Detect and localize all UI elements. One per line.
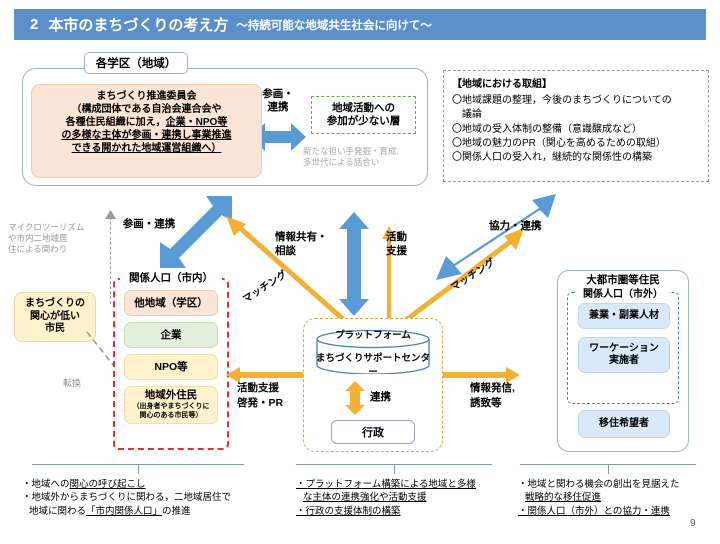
bottom-left-line-2: ・地域外からまちづくりに関わる，二地域居住で — [22, 491, 292, 504]
bracket-right — [520, 464, 696, 465]
slide-title-bar: 2 本市のまちづくりの考え方 ～持続可能な地域共生社会に向けて～ — [14, 9, 706, 40]
low-participation-note-2: 多世代による話合い — [303, 157, 427, 168]
kankei-box-outside-residents: 地域外住民 （出身者やまちづくりに 関心のある市民等） — [124, 386, 218, 424]
committee-line-5: できる開かれた地域運営組織へ） — [38, 142, 255, 155]
gyosei-box: 行政 — [331, 420, 415, 444]
committee-line-2: （構成団体である自治会連合会や — [38, 103, 255, 116]
bottom-right-line-2: 戦略的な移住促進 — [518, 491, 714, 504]
label-katsudo-shien-b: 支援 — [386, 245, 420, 259]
label-kyoryoku-renkei: 協力・連携 — [489, 218, 542, 233]
bottom-center-line-2: な主体の連携強化や活動支援 — [296, 491, 514, 504]
platform-support-center-label: まちづくりサポートセンター — [313, 350, 433, 378]
initiatives-item-2: 〇地域の受入体制の整備（意識醸成など） — [452, 123, 702, 137]
label-renkei: 連携 — [370, 389, 391, 404]
initiatives-item-1: 議論 — [452, 108, 702, 122]
initiatives-heading: 【地域における取組】 — [452, 78, 702, 92]
bottom-right-line-1: ・地域と関わる機会の創出を見据えた — [518, 478, 714, 491]
bottom-left-line-1a: ・地域への — [22, 479, 70, 490]
low-interest-citizens-box: まちづくりの 関心が低い 市民 — [14, 292, 96, 342]
kankei-box-other-district-label: 他地域（学区） — [134, 297, 208, 310]
platform-cylinder-title: プラットフォーム — [326, 327, 420, 341]
bottom-left-line-3: 地域に関わる「市内関係人口」の推進 — [22, 505, 292, 518]
initiatives-item-4: 〇関係人口の受入れ，継続的な関係性の構築 — [452, 151, 702, 165]
low-participation-note-1: 新たな担い手発掘・育成, — [303, 146, 427, 157]
label-joho-kyoyu-sodan: 情報共有・ 相談 — [275, 231, 333, 258]
gyosei-label: 行政 — [362, 424, 384, 440]
committee-line-1: まちづくり推進委員会 — [38, 90, 255, 103]
bracket-left — [32, 464, 244, 465]
label-joho-hasshin-a: 情報発信, — [470, 381, 536, 396]
kankei-box-outside-residents-label: 地域外住民 — [145, 389, 198, 402]
blue-double-arrow-diagonal-left — [160, 196, 232, 268]
bottom-left-line-3c: の推進 — [162, 506, 191, 517]
metro-box-migration-hopeful-label: 移住希望者 — [599, 418, 649, 430]
kankei-box-company: 企業 — [124, 322, 218, 348]
bottom-right-line-3: ・関係人口（市外）との協力・連携 — [518, 505, 714, 518]
label-katsudo-keihatsu-b: 啓発・PR — [237, 396, 303, 411]
kankei-box-npo: NPO等 — [124, 354, 218, 380]
low-interest-line-2: 関心が低い — [25, 311, 85, 324]
committee-line-3: 各種住民組織に加え，企業・NPO等 — [38, 116, 255, 129]
label-sanka-renkei-top-b: 連携 — [256, 101, 300, 114]
bottom-center-line-1: ・プラットフォーム構築による地域と多様 — [296, 478, 514, 491]
bottom-center-line-3: ・行政の支援体制の構築 — [296, 505, 514, 518]
bottom-left-line-3b: 「市内関係人口」 — [86, 506, 162, 517]
low-participation-line-2: 参加が少ない層 — [327, 115, 401, 128]
low-participation-note: 新たな担い手発掘・育成, 多世代による話合い — [303, 146, 427, 168]
initiatives-item-0: 〇地域課題の整理，今後のまちづくりについての — [452, 94, 702, 108]
metro-box-migration-hopeful: 移住希望者 — [578, 410, 670, 438]
label-joho-kyoyu-a: 情報共有・ — [275, 231, 333, 245]
kankei-box-outside-residents-sub2: 関心のある市民等） — [140, 412, 203, 420]
label-tenkan: 転換 — [50, 376, 94, 389]
school-zone-tag: 各学区（地域） — [84, 52, 188, 74]
low-interest-line-1: まちづくりの — [25, 298, 85, 311]
bottom-left-line-1: ・地域への関心の呼び起こし — [22, 478, 292, 491]
committee-line-3-underline: 企業・NPO等 — [166, 117, 228, 128]
kankei-box-other-district: 他地域（学区） — [124, 290, 218, 316]
label-joho-hasshin-b: 誘致等 — [470, 396, 536, 411]
metro-box-workation: ワーケーション 実施者 — [578, 337, 670, 373]
initiatives-item-3: 〇地域の魅力のPR（関心を高めるための取組） — [452, 137, 702, 151]
label-katsudo-shien: 活動 支援 — [386, 231, 420, 258]
bottom-left-line-1b: 関心の呼び起こし — [70, 479, 146, 490]
kankei-box-npo-label: NPO等 — [154, 361, 187, 374]
regional-initiatives-box: 【地域における取組】 〇地域課題の整理，今後のまちづくりについての 議論 〇地域… — [443, 70, 709, 182]
metro-box-side-business-label: 兼業・副業人材 — [589, 310, 659, 322]
bottom-left-line-3a: 地域に関わる — [29, 506, 86, 517]
label-joho-hasshin: 情報発信, 誘致等 — [470, 381, 536, 411]
page-title: 本市のまちづくりの考え方 — [48, 14, 228, 35]
label-joho-kyoyu-b: 相談 — [275, 245, 333, 259]
label-katsudo-keihatsu-a: 活動支援 — [237, 381, 303, 396]
committee-line-3-plain: 各種住民組織に加え， — [66, 117, 166, 128]
low-interest-line-3: 市民 — [25, 323, 85, 336]
metro-box-workation-line-1: ワーケーション — [589, 343, 659, 355]
title-number: 2 — [30, 16, 38, 33]
metro-box-workation-line-2: 実施者 — [589, 355, 659, 367]
kankei-jinko-shigai-tag: 関係人口（市外） — [577, 285, 669, 299]
micro-tourism-line-3: 住による関わり — [8, 244, 94, 255]
kankei-box-company-label: 企業 — [161, 329, 182, 342]
kankei-jinko-shinai-tag: 関係人口（市内） — [120, 269, 222, 285]
metro-box-side-business: 兼業・副業人材 — [578, 303, 670, 329]
bottom-text-center: ・プラットフォーム構築による地域と多様 な主体の連携強化や活動支援 ・行政の支援… — [296, 478, 514, 518]
micro-tourism-line-1: マイクロツーリズム — [8, 222, 94, 233]
label-katsudo-shien-keihatsu: 活動支援 啓発・PR — [237, 381, 303, 411]
bracket-center — [296, 464, 492, 465]
micro-tourism-note: マイクロツーリズム や市内二地域居 住による関わり — [8, 222, 94, 256]
label-sanka-renkei-top: 参画・ 連携 — [256, 88, 300, 114]
label-katsudo-shien-a: 活動 — [386, 231, 420, 245]
page-number: 9 — [690, 518, 696, 529]
bottom-text-right: ・地域と関わる機会の創出を見据えた 戦略的な移住促進 ・関係人口（市外）との協力… — [518, 478, 714, 518]
micro-tourism-line-2: や市内二地域居 — [8, 233, 94, 244]
bottom-text-left: ・地域への関心の呼び起こし ・地域外からまちづくりに関わる，二地域居住で 地域に… — [22, 478, 292, 518]
micro-tourism-arrowhead-icon — [105, 206, 116, 215]
blue-double-arrow-diagonal-right — [436, 194, 556, 280]
label-sanka-renkei-top-a: 参画・ — [256, 88, 300, 101]
kankei-box-outside-residents-sub1: （出身者やまちづくりに — [133, 403, 210, 411]
committee-line-4: の多様な主体が参画・連携し事業推進 — [38, 129, 255, 142]
machizukuri-committee-box: まちづくり推進委員会 （構成団体である自治会連合会や 各種住民組織に加え，企業・… — [31, 84, 262, 178]
page-subtitle: ～持続可能な地域共生社会に向けて～ — [236, 17, 432, 33]
low-participation-line-1: 地域活動への — [327, 102, 401, 115]
yellow-double-arrow-renkei — [344, 381, 366, 415]
low-participation-box: 地域活動への 参加が少ない層 — [311, 96, 416, 134]
